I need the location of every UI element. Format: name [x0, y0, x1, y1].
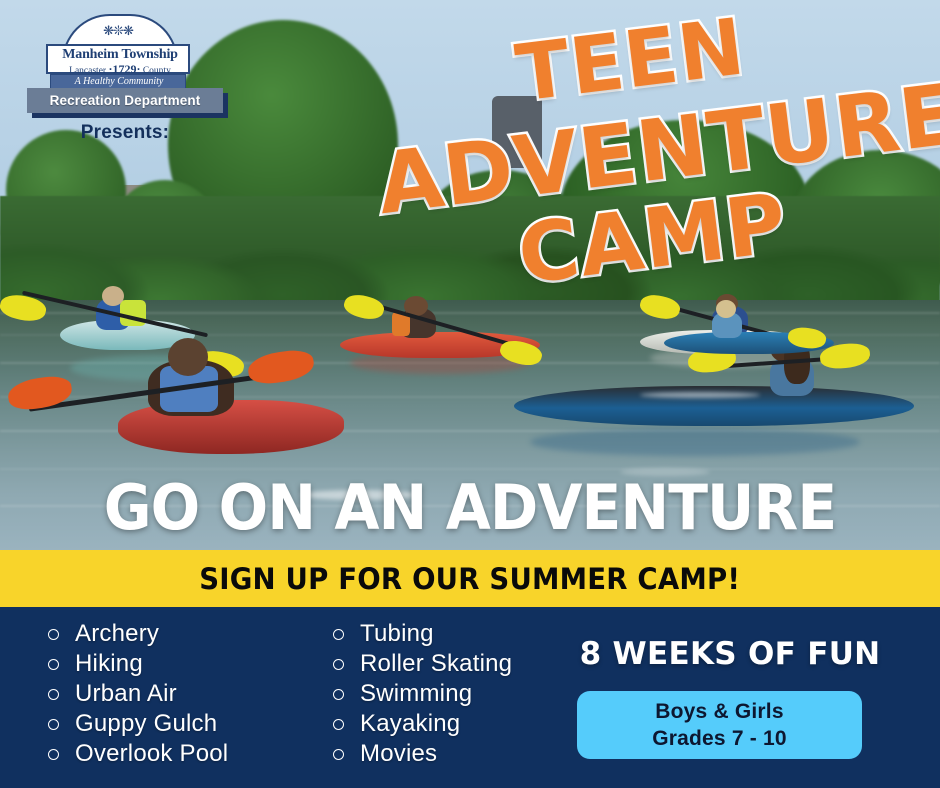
- bullet-circle-icon: [333, 689, 344, 700]
- activity-label: Movies: [360, 740, 437, 768]
- list-item: Archery: [48, 619, 333, 649]
- bullet-circle-icon: [48, 749, 59, 760]
- weeks-of-fun-label: 8 WEEKS OF FUN: [560, 636, 900, 672]
- list-item: Urban Air: [48, 679, 333, 709]
- bullet-circle-icon: [48, 629, 59, 640]
- activity-label: Guppy Gulch: [75, 710, 217, 738]
- bullet-circle-icon: [48, 689, 59, 700]
- bullet-circle-icon: [333, 659, 344, 670]
- logo-township-name: Manheim Township: [48, 47, 192, 63]
- paddler-6-head: [716, 300, 736, 318]
- activity-label: Swimming: [360, 680, 472, 708]
- bullet-circle-icon: [48, 719, 59, 730]
- department-badge: Recreation Department: [27, 88, 223, 113]
- activity-label: Archery: [75, 620, 159, 648]
- reflection-4: [530, 428, 860, 456]
- activity-label: Urban Air: [75, 680, 177, 708]
- kayak-blue-highlight: [640, 392, 760, 398]
- silo: [492, 96, 542, 168]
- list-item: Swimming: [333, 679, 618, 709]
- list-item: Hiking: [48, 649, 333, 679]
- signup-banner-text: SIGN UP FOR OUR SUMMER CAMP!: [200, 562, 741, 596]
- bullet-circle-icon: [333, 629, 344, 640]
- audience-line-1: Boys & Girls: [655, 698, 783, 725]
- activities-column-1: Archery Hiking Urban Air Guppy Gulch Ove…: [48, 619, 333, 769]
- audience-badge: Boys & Girls Grades 7 - 10: [577, 691, 862, 759]
- presents-label: Presents:: [27, 122, 223, 144]
- manheim-township-logo: ❋❊❋ Manheim Township Lancaster ·1729· Co…: [46, 14, 190, 92]
- bullet-circle-icon: [333, 719, 344, 730]
- activity-label: Hiking: [75, 650, 143, 678]
- list-item: Overlook Pool: [48, 739, 333, 769]
- paddler-4-head: [168, 338, 208, 376]
- bullet-circle-icon: [48, 659, 59, 670]
- paddler-1-head: [102, 286, 124, 306]
- logo-name-bar: Manheim Township Lancaster ·1729· County: [46, 44, 190, 74]
- activity-label: Kayaking: [360, 710, 460, 738]
- activity-label: Tubing: [360, 620, 434, 648]
- list-item: Kayaking: [333, 709, 618, 739]
- headline-go-on-an-adventure: GO ON AN ADVENTURE: [28, 471, 912, 544]
- logo-flourish-ornament-icon: ❋❊❋: [92, 24, 144, 38]
- audience-line-2: Grades 7 - 10: [652, 725, 787, 752]
- activity-label: Overlook Pool: [75, 740, 228, 768]
- list-item: Guppy Gulch: [48, 709, 333, 739]
- bullet-circle-icon: [333, 749, 344, 760]
- activities-columns: Archery Hiking Urban Air Guppy Gulch Ove…: [48, 619, 618, 769]
- poster-flyer: ❋❊❋ Manheim Township Lancaster ·1729· Co…: [0, 0, 940, 788]
- signup-banner: SIGN UP FOR OUR SUMMER CAMP!: [0, 550, 940, 607]
- list-item: Movies: [333, 739, 618, 769]
- activity-label: Roller Skating: [360, 650, 512, 678]
- logo-tagline: A Healthy Community: [51, 76, 187, 87]
- riverbank-foliage: [0, 196, 940, 308]
